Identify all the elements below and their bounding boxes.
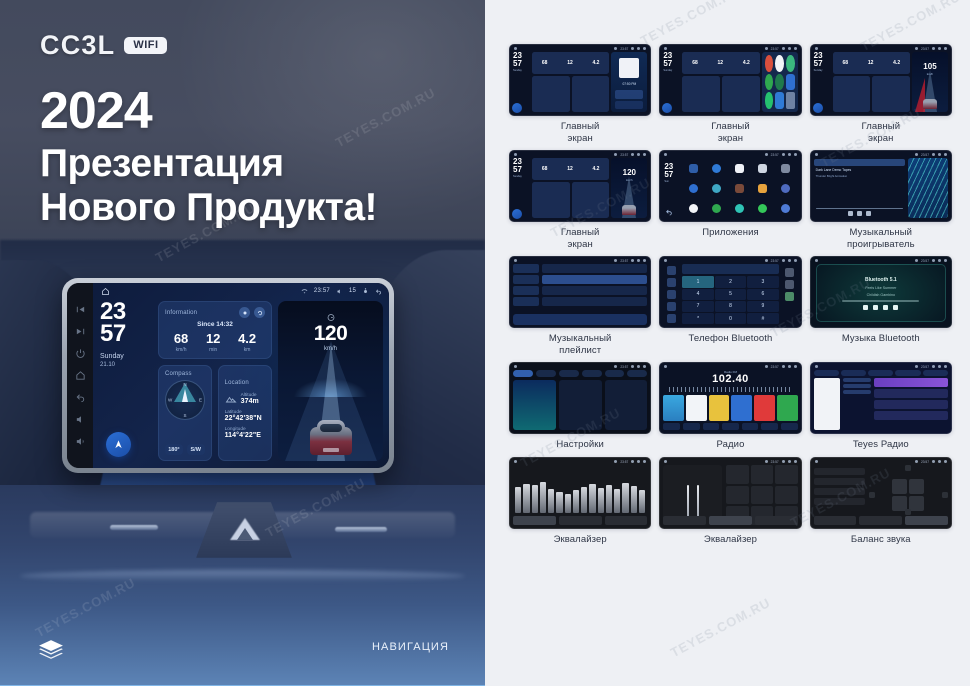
altitude-value: 374m: [241, 398, 259, 405]
app-icon-gallery[interactable]: [775, 180, 796, 198]
tab-balance: [559, 516, 602, 525]
brand-lockup: CC3L WIFI: [40, 30, 167, 61]
dialer-column: 123 456 789 *0#: [682, 264, 778, 324]
tab-eq: [513, 516, 556, 525]
stop-button: [883, 305, 888, 310]
screen-thumbnail-music-player[interactable]: 23:57 Dark Lane Demo Tapes Thunder Brigh…: [810, 150, 952, 222]
screen-thumbnail-playlist[interactable]: 23:57: [509, 256, 651, 328]
play-pause-button: [857, 211, 862, 216]
altitude-row: Altitude 374m: [225, 393, 265, 405]
preset-2: [686, 395, 707, 421]
speaker-fl: [892, 479, 907, 494]
location-title: Location: [225, 380, 249, 386]
car-interior-scene: 23:57 15 23 57 Sunday: [0, 240, 485, 686]
call-log-icon: [667, 302, 676, 311]
app-icon-musicplayer[interactable]: [729, 199, 750, 217]
information-buttons: [239, 307, 265, 318]
grid-cell[interactable]: 23:57 Настройки: [509, 362, 651, 451]
trip-stat-value: 68: [174, 332, 188, 345]
clock-weekday: Sunday: [100, 352, 152, 361]
screen-thumbnail-home-media[interactable]: 23:57 2357Sunday 68124.2 07:50 PM: [509, 44, 651, 116]
dial-key: 6: [747, 289, 778, 300]
status-bar-right: 23:57 15: [301, 288, 382, 295]
screen-thumbnail-home-road-105[interactable]: 23:57 2357Sunday 68124.2 105 km/h: [810, 44, 952, 116]
longitude-value: 114°4'22"E: [225, 432, 265, 439]
station-list[interactable]: [874, 378, 948, 430]
tab-apps: [582, 370, 602, 377]
vehicle-plate: [323, 448, 339, 452]
app-icon-dvr[interactable]: [729, 180, 750, 198]
screen-thumbnail-phone[interactable]: 23:57 123 456 789 *0#: [659, 256, 801, 328]
favorite-icon: [785, 268, 794, 277]
layers-icon[interactable]: [38, 640, 64, 662]
thumb-caption: Музыка Bluetooth: [842, 333, 920, 345]
head-unit-device: 23:57 15 23 57 Sunday: [62, 278, 394, 473]
compass-west-label: W: [168, 398, 172, 403]
settings-tabs[interactable]: [513, 370, 647, 377]
thumb-caption: Главныйэкран: [862, 121, 901, 144]
lower-widgets: Compass N S W E: [158, 365, 272, 461]
information-card-header: Information: [165, 307, 265, 318]
power-key-icon[interactable]: [75, 348, 86, 359]
trip-stat-unit: min: [206, 347, 220, 353]
compass-north-label: N: [183, 382, 186, 387]
phone-sidebar[interactable]: [663, 264, 679, 324]
app-icon-bluetooth[interactable]: [706, 160, 727, 178]
thumb-status-bar: 23:57: [510, 45, 650, 52]
compass-card[interactable]: Compass N S W E: [158, 365, 212, 461]
compass-south-label: S: [183, 413, 186, 418]
grid-cell[interactable]: 23:57 Dark Lane Demo Tapes Thunder Brigh…: [810, 150, 952, 250]
home-icon[interactable]: [101, 287, 110, 296]
widget-column: Information Since 14:32: [158, 301, 272, 461]
dial-key: 1: [682, 276, 713, 287]
equalizer-layout: [513, 465, 647, 525]
thumb-speed-unit: km/h: [912, 72, 948, 76]
tab-preset: [859, 516, 902, 525]
screen-thumbnail-home-apps[interactable]: 23:57 2357Sunday 68124.2: [659, 44, 801, 116]
dial-key: 5: [715, 289, 746, 300]
back-icon[interactable]: [375, 288, 382, 295]
app-icon-chrome[interactable]: [683, 180, 704, 198]
hardware-key-bar[interactable]: [67, 283, 93, 468]
presentation-page: CC3L WIFI 2024 Презентация Нового Продук…: [0, 0, 970, 686]
grid-cell[interactable]: 23:57 Баланс звука: [810, 457, 952, 546]
app-icon-radio[interactable]: [775, 199, 796, 217]
grid-cell[interactable]: 23:57 2357Sunday 68124.2 105 km/h: [810, 44, 952, 144]
prev-button: [848, 211, 853, 216]
radio-presets[interactable]: [663, 395, 797, 421]
thumb-caption: Главныйэкран: [561, 227, 600, 250]
radio-toolbar[interactable]: [663, 423, 797, 430]
screen-thumbnail-bt-music[interactable]: 23:57 Bluetooth 5.1 Feels Like Summer Ch…: [810, 256, 952, 328]
headline-line1: Презентация: [40, 142, 377, 186]
prev-track-key-icon[interactable]: [75, 304, 86, 315]
dial-key: 9: [747, 301, 778, 312]
hero-panel: CC3L WIFI 2024 Презентация Нового Продук…: [0, 0, 485, 686]
play-pause-button: [873, 305, 878, 310]
radio-tuning-scale[interactable]: [669, 387, 791, 392]
radio-layout: Radio FM 102.40: [663, 370, 797, 430]
wifi-icon: [301, 288, 308, 295]
trip-stat-value: 4.2: [238, 332, 256, 345]
headline-year: 2024: [40, 85, 377, 138]
navigation-arrow-icon: [113, 439, 124, 450]
wifi-card: [513, 380, 556, 430]
screen-thumbnail-home-road-120[interactable]: 23:57 2357Sunday 68124.2 120 km/h: [509, 150, 651, 222]
thumb-widgets: 68124.2: [532, 52, 609, 112]
navigation-fab-button[interactable]: [106, 432, 131, 457]
back-icon[interactable]: [665, 208, 673, 216]
dial-key: #: [747, 313, 778, 324]
compass-needle: [182, 389, 188, 402]
hero-footer: НАВИГАЦИЯ: [0, 624, 485, 686]
screens-grid: 23:57 2357Sunday 68124.2 07:50 PM: [509, 44, 952, 546]
trip-stats: 68 km/h 12 min 4.2: [165, 332, 265, 353]
thumb-clock: 2357Sun: [664, 163, 681, 183]
prev-button: [863, 305, 868, 310]
preset-6: [777, 395, 798, 421]
app-icon-avin[interactable]: [683, 160, 704, 178]
compass-dial: N S W E: [165, 380, 205, 420]
thumb-caption: Эквалайзер: [704, 534, 757, 546]
more-card: [605, 380, 648, 430]
playlist-mini-player[interactable]: [513, 314, 647, 325]
grid-cell[interactable]: 23:57 Radio FM 102.40: [659, 362, 801, 451]
latitude-row: Latitude 22°42'38"N: [225, 410, 265, 422]
mountain-icon: [225, 393, 237, 405]
dial-key: 2: [715, 276, 746, 287]
status-bar: 23:57 15: [93, 283, 389, 299]
tab-eq: [814, 516, 857, 525]
bt-progress-bar[interactable]: [842, 300, 919, 302]
headline-block: 2024 Презентация Нового Продукта!: [40, 85, 377, 229]
thumb-nav-fab: [512, 103, 522, 113]
screen-thumbnail-equalizer-presets[interactable]: 23:57: [659, 457, 801, 529]
tab-sound: [536, 370, 556, 377]
track-artist: Thunder Bright Animation: [816, 174, 905, 178]
compass-east-label: E: [199, 398, 202, 403]
screen-thumbnail-balance[interactable]: 23:57: [810, 457, 952, 529]
app-icon-calculator[interactable]: [752, 160, 773, 178]
footer-navigation-label: НАВИГАЦИЯ: [372, 641, 449, 653]
grid-cell[interactable]: 23:57 123 456 789 *0#: [659, 256, 801, 356]
compass-title: Compass: [165, 371, 205, 377]
dial-key: 7: [682, 301, 713, 312]
tab-display: [559, 370, 579, 377]
thumb-caption: Музыкальныйпроигрыватель: [847, 227, 915, 250]
thumb-road-pane: 120 km/h: [611, 158, 647, 218]
information-title: Information: [165, 310, 197, 316]
thumb-caption: Настройки: [556, 439, 603, 451]
air-vent-left: [110, 525, 158, 530]
app-icon-playstore[interactable]: [752, 199, 773, 217]
thumb-caption: Главныйэкран: [561, 121, 600, 144]
thumb-caption: Баланс звука: [851, 534, 911, 546]
air-vent-right: [335, 527, 387, 532]
preset-1: [663, 395, 684, 421]
thumb-speed-unit: km/h: [611, 178, 647, 182]
tab-preset: [709, 516, 752, 525]
balance-down-arrow[interactable]: [905, 509, 911, 515]
grid-cell[interactable]: 23:57 Музыкальныйплейлист: [509, 256, 651, 356]
grid-cell[interactable]: 23:57 Эквалайзер: [509, 457, 651, 546]
status-volume: 15: [349, 288, 356, 294]
thumb-caption: Эквалайзер: [554, 534, 607, 546]
music-player-layout: Dark Lane Demo Tapes Thunder Bright Anim…: [814, 158, 948, 218]
tab-eq: [663, 516, 706, 525]
driving-view-widget[interactable]: 120 km/h: [278, 301, 383, 461]
compass-readouts: 180° S/W: [165, 444, 205, 455]
dialpad-icon: [667, 266, 676, 275]
bt-track-artist: Childish Gambino: [867, 293, 895, 297]
thumb-speed-value: 105: [912, 62, 948, 71]
grid-cell[interactable]: 23:57 2357Sunday 68124.2: [659, 44, 801, 144]
speaker-rr: [909, 496, 924, 511]
head-unit-bezel: 23:57 15 23 57 Sunday: [67, 283, 389, 468]
eq-band-sliders[interactable]: [513, 465, 647, 516]
home-screen-body: 23 57 Sunday 21.10: [100, 301, 383, 461]
thumb-caption: Приложения: [702, 227, 759, 239]
preset-4: [731, 395, 752, 421]
contacts-icon: [667, 278, 676, 287]
eq-tabs[interactable]: [663, 516, 797, 525]
track-title: Dark Lane Demo Tapes: [816, 168, 905, 172]
trip-stat-value: 12: [206, 332, 220, 345]
home-key-icon[interactable]: [75, 370, 86, 381]
thumb-caption: Teyes Радио: [853, 439, 909, 451]
thumb-caption: Телефон Bluetooth: [689, 333, 773, 345]
grid-cell[interactable]: 23:57 Эквалайзер: [659, 457, 801, 546]
refresh-icon[interactable]: [254, 307, 265, 318]
bt-playback-controls[interactable]: [863, 305, 898, 310]
eq-tabs[interactable]: [513, 516, 647, 525]
screen-thumbnail-teyes-radio[interactable]: 23:57: [810, 362, 952, 434]
balance-up-arrow[interactable]: [905, 465, 911, 471]
next-button: [893, 305, 898, 310]
thumb-speed-value: 120: [611, 168, 647, 177]
app-icon-camera[interactable]: [775, 160, 796, 178]
thumb-road-pane: 105 km/h: [912, 52, 948, 112]
search-icon: [667, 290, 676, 299]
thumb-home-layout: 2357Sunday 68124.2 07:50 PM: [513, 52, 647, 112]
speaker-grid[interactable]: [892, 479, 924, 511]
tab-balance: [905, 516, 948, 525]
speed-limit-icon: [326, 313, 335, 322]
clock-date: 21.10: [100, 362, 152, 370]
thumb-caption: Радио: [717, 439, 745, 451]
app-icon-clock[interactable]: [706, 180, 727, 198]
thumb-apps-pane: [762, 52, 798, 112]
grid-cell[interactable]: 23:57 2357Sunday 68124.2 07:50 PM: [509, 44, 651, 144]
dial-key: 8: [715, 301, 746, 312]
preset-5: [754, 395, 775, 421]
app-icon-bluetooth-music[interactable]: [729, 160, 750, 178]
trip-stat-unit: km/h: [174, 347, 188, 353]
speaker-fr: [909, 479, 924, 494]
radio-frequency: 102.40: [663, 374, 797, 385]
head-unit-screen[interactable]: 23:57 15 23 57 Sunday: [93, 283, 389, 468]
trip-stat-unit: km: [238, 347, 256, 353]
now-playing-info: Dark Lane Demo Tapes Thunder Bright Anim…: [814, 158, 905, 218]
volume-icon: [336, 288, 343, 295]
screen-thumbnail-settings[interactable]: 23:57: [509, 362, 651, 434]
settings-cards[interactable]: [513, 380, 647, 430]
settings-icon[interactable]: [362, 288, 369, 295]
phone-actions[interactable]: [782, 264, 798, 324]
thumb-caption: Главныйэкран: [711, 121, 750, 144]
profile-icon: [667, 314, 676, 323]
dial-pad[interactable]: 123 456 789 *0#: [682, 276, 778, 324]
settings-layout: [513, 370, 647, 430]
next-button: [866, 211, 871, 216]
volume-down-key-icon[interactable]: [75, 414, 86, 425]
compass-direction: S/W: [187, 444, 205, 455]
dial-key: 3: [747, 276, 778, 287]
bt-music-card: Bluetooth 5.1 Feels Like Summer Childish…: [816, 264, 946, 322]
thumb-media-pane: 07:50 PM: [611, 52, 647, 112]
bt-track-title: Feels Like Summer: [865, 286, 896, 290]
speed-value: 120: [278, 323, 383, 344]
phone-number-input[interactable]: [682, 264, 778, 274]
teyes-radio-tabs[interactable]: [814, 370, 948, 376]
thumb-caption: Музыкальныйплейлист: [549, 333, 612, 356]
location-card[interactable]: Location Altitude 374m: [218, 365, 272, 461]
dial-key: *: [682, 313, 713, 324]
phone-dialer-layout: 123 456 789 *0#: [663, 264, 797, 324]
screens-grid-panel: 23:57 2357Sunday 68124.2 07:50 PM: [485, 0, 970, 686]
backspace-icon: [785, 280, 794, 289]
app-icon-gmail[interactable]: [683, 199, 704, 217]
watermark: TEYES.COM.RU: [668, 595, 773, 660]
eq-tabs[interactable]: [814, 516, 948, 525]
screen-thumbnail-equalizer[interactable]: 23:57: [509, 457, 651, 529]
speed-unit: km/h: [278, 346, 383, 352]
tab-system: [605, 370, 625, 377]
volume-up-key-icon[interactable]: [75, 436, 86, 447]
call-icon: [785, 292, 794, 301]
tab-sound: [755, 516, 798, 525]
grid-cell[interactable]: 23:57 Teyes Радио: [810, 362, 952, 451]
compass-degrees: 180°: [165, 444, 183, 455]
longitude-row: Longitude 114°4'22"E: [225, 427, 265, 439]
next-track-key-icon[interactable]: [75, 326, 86, 337]
tab-about: [627, 370, 647, 377]
teyes-radio-layout: [814, 370, 948, 430]
playback-controls[interactable]: [814, 211, 905, 218]
grid-cell[interactable]: 23:57 2357Sunday 68124.2 120 km/h: [509, 150, 651, 250]
grid-cell[interactable]: 23:57 2357Sun: [659, 150, 801, 250]
teyes-radio-body: [814, 378, 948, 430]
dial-key: 4: [682, 289, 713, 300]
bt-version-label: Bluetooth 5.1: [865, 277, 897, 283]
trip-since-label: Since 14:32: [165, 321, 265, 328]
information-card[interactable]: Information Since 14:32: [158, 301, 272, 359]
vehicle-3d-model: [310, 415, 352, 455]
tab-wifi: [513, 370, 533, 377]
hazard-light-inner: [237, 528, 253, 540]
app-icon-maps[interactable]: [706, 199, 727, 217]
console-trim: [20, 570, 465, 582]
trip-stat: 4.2 km: [238, 332, 256, 353]
trip-stat: 12 min: [206, 332, 220, 353]
vehicle-rear-window: [320, 424, 342, 432]
album-visualizer: [908, 158, 948, 218]
balance-right-arrow[interactable]: [942, 492, 948, 498]
tab-sound: [605, 516, 648, 525]
station-meta: [843, 378, 871, 430]
back-key-icon[interactable]: [75, 392, 86, 403]
clock-minutes: 57: [100, 323, 152, 345]
status-time: 23:57: [314, 288, 330, 294]
app-icon-filemanager[interactable]: [752, 180, 773, 198]
dial-key: 0: [715, 313, 746, 324]
preset-3: [709, 395, 730, 421]
watermark: TEYES.COM.RU: [638, 0, 743, 48]
carplay-card: [559, 380, 602, 430]
headline-line2: Нового Продукта!: [40, 186, 377, 230]
brand-name: CC3L: [40, 30, 115, 61]
wifi-badge: WIFI: [124, 37, 166, 54]
clock-widget[interactable]: 23 57 Sunday 21.10: [100, 301, 152, 461]
trip-stat: 68 km/h: [174, 332, 188, 353]
balance-left-arrow[interactable]: [869, 492, 875, 498]
station-artwork: [814, 378, 840, 430]
app-drawer-grid[interactable]: [681, 159, 797, 218]
screen-thumbnail-radio[interactable]: 23:57 Radio FM 102.40: [659, 362, 801, 434]
gear-icon[interactable]: [239, 307, 250, 318]
screen-thumbnail-apps[interactable]: 23:57 2357Sun: [659, 150, 801, 222]
grid-cell[interactable]: 23:57 Bluetooth 5.1 Feels Like Summer Ch…: [810, 256, 952, 356]
latitude-value: 22°42'38"N: [225, 415, 265, 422]
